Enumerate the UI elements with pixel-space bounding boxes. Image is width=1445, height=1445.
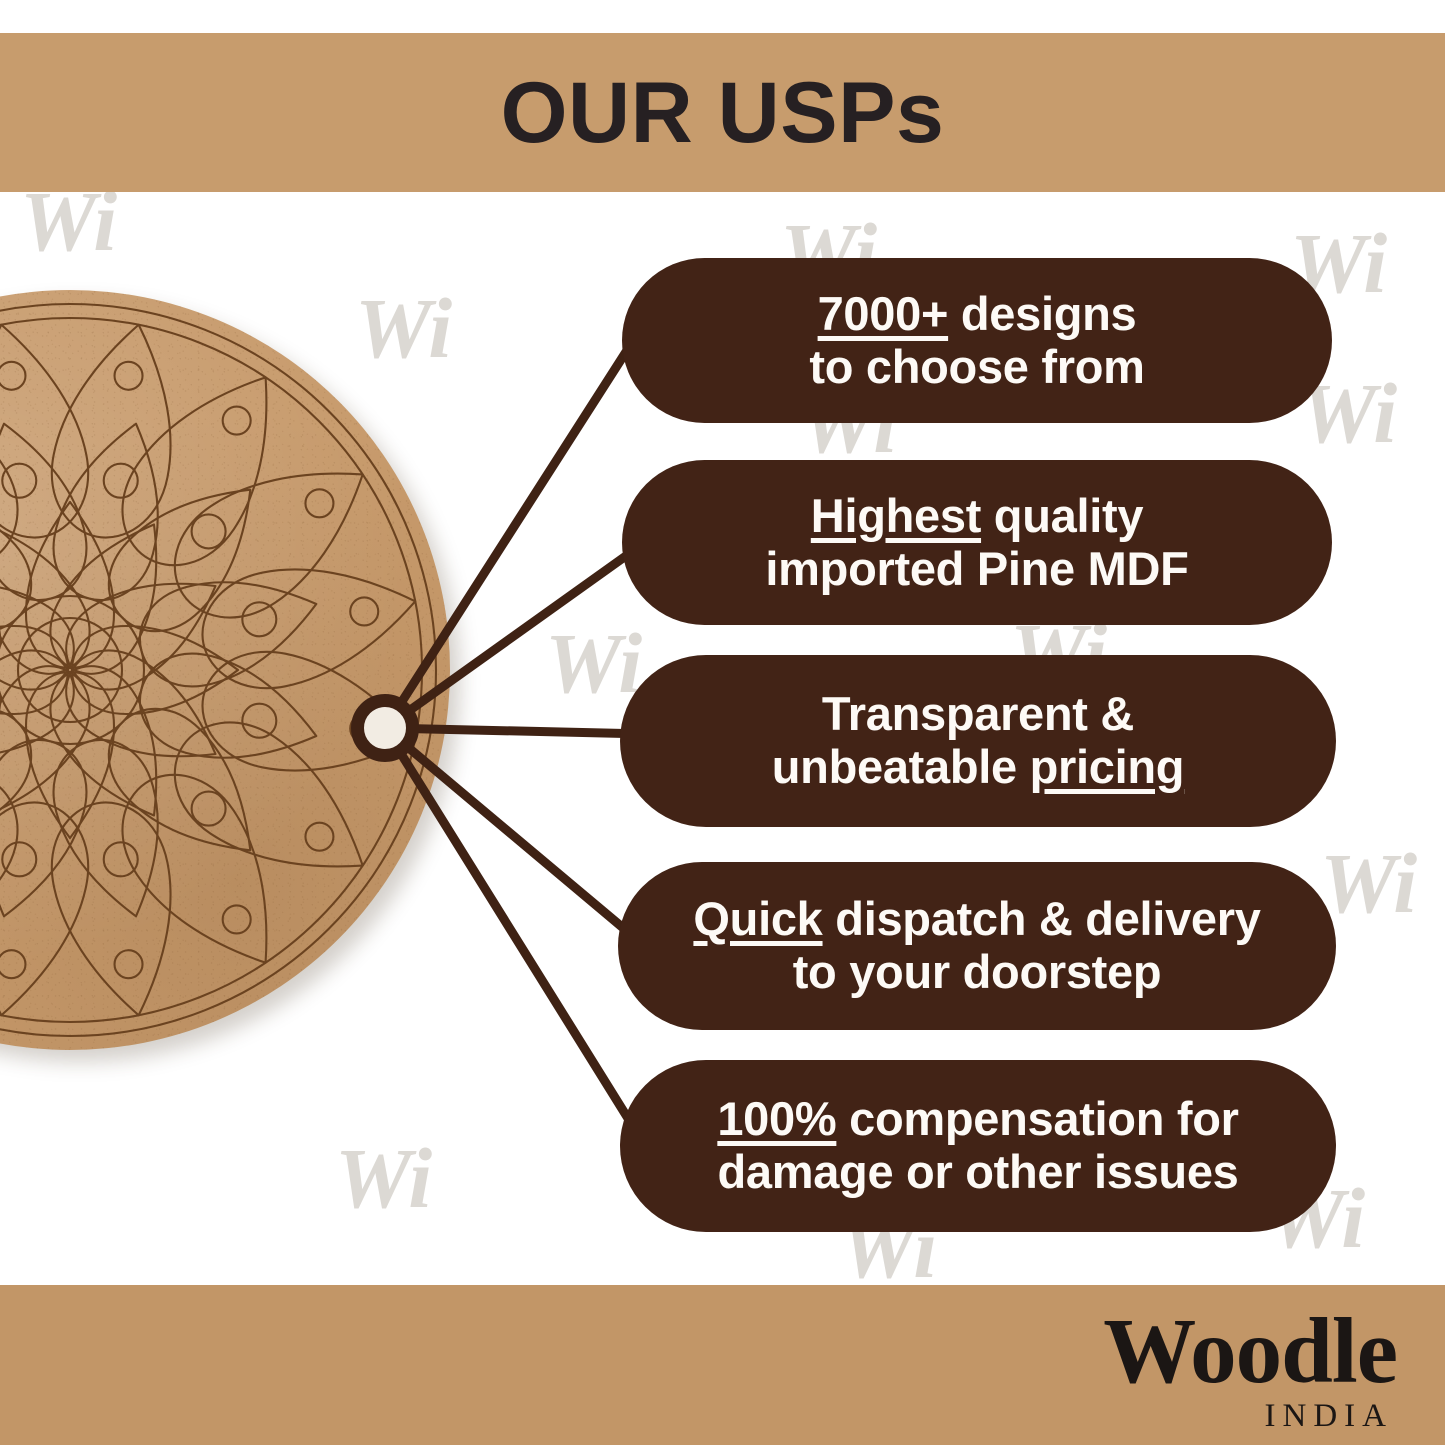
- usp-pill-text: Transparent & unbeatable pricing: [772, 688, 1184, 793]
- usp-highlight: 7000+: [818, 287, 949, 340]
- page-title: OUR USPs: [501, 70, 945, 156]
- usp-pill-designs[interactable]: 7000+ designs to choose from: [622, 258, 1332, 423]
- usp-line2: to choose from: [809, 341, 1144, 394]
- usp-pill-text: 100% compensation for damage or other is…: [717, 1093, 1238, 1198]
- usp-line2: imported Pine MDF: [765, 543, 1188, 596]
- header-bar: OUR USPs: [0, 33, 1445, 192]
- footer-bar: Woodle INDIA: [0, 1285, 1445, 1445]
- usp-highlight: pricing: [1030, 740, 1185, 793]
- usp-pill-pricing[interactable]: Transparent & unbeatable pricing: [620, 655, 1336, 827]
- usp-line2-prefix: unbeatable: [772, 740, 1030, 793]
- usp-pill-quality[interactable]: Highest quality imported Pine MDF: [622, 460, 1332, 625]
- usp-pill-text: Quick dispatch & delivery to your doorst…: [693, 893, 1260, 998]
- usp-pill-dispatch[interactable]: Quick dispatch & delivery to your doorst…: [618, 862, 1336, 1030]
- infographic-page: Wi Wi Wi Wi Wi Wi Wi Wi Wi Wi Wi Wi: [0, 0, 1445, 1445]
- usp-pill-text: 7000+ designs to choose from: [809, 288, 1144, 393]
- usp-line1-rest: designs: [948, 287, 1136, 340]
- usp-line2: damage or other issues: [717, 1146, 1238, 1199]
- usp-highlight: Highest: [811, 489, 981, 542]
- usp-highlight: Quick: [693, 892, 822, 945]
- usp-highlight: 100%: [717, 1092, 836, 1145]
- usp-line2: to your doorstep: [693, 946, 1260, 999]
- usp-line1-rest: quality: [981, 489, 1143, 542]
- usp-line1-rest: compensation for: [836, 1092, 1238, 1145]
- logo-subtitle: INDIA: [1103, 1400, 1393, 1433]
- logo-wordmark: Woodle: [1103, 1305, 1397, 1398]
- usp-pill-text: Highest quality imported Pine MDF: [765, 490, 1188, 595]
- hub-node: [351, 694, 419, 762]
- usp-pill-compensation[interactable]: 100% compensation for damage or other is…: [620, 1060, 1336, 1232]
- usp-line1: Transparent &: [772, 688, 1184, 741]
- watermark-wi: Wi: [545, 620, 642, 706]
- watermark-wi: Wi: [335, 1135, 432, 1221]
- mandala-engraving: [0, 290, 450, 1050]
- brand-logo: Woodle INDIA: [1103, 1305, 1397, 1433]
- watermark-wi: Wi: [1320, 840, 1417, 926]
- mdf-disc: [0, 290, 450, 1050]
- usp-line1-rest: dispatch & delivery: [823, 892, 1261, 945]
